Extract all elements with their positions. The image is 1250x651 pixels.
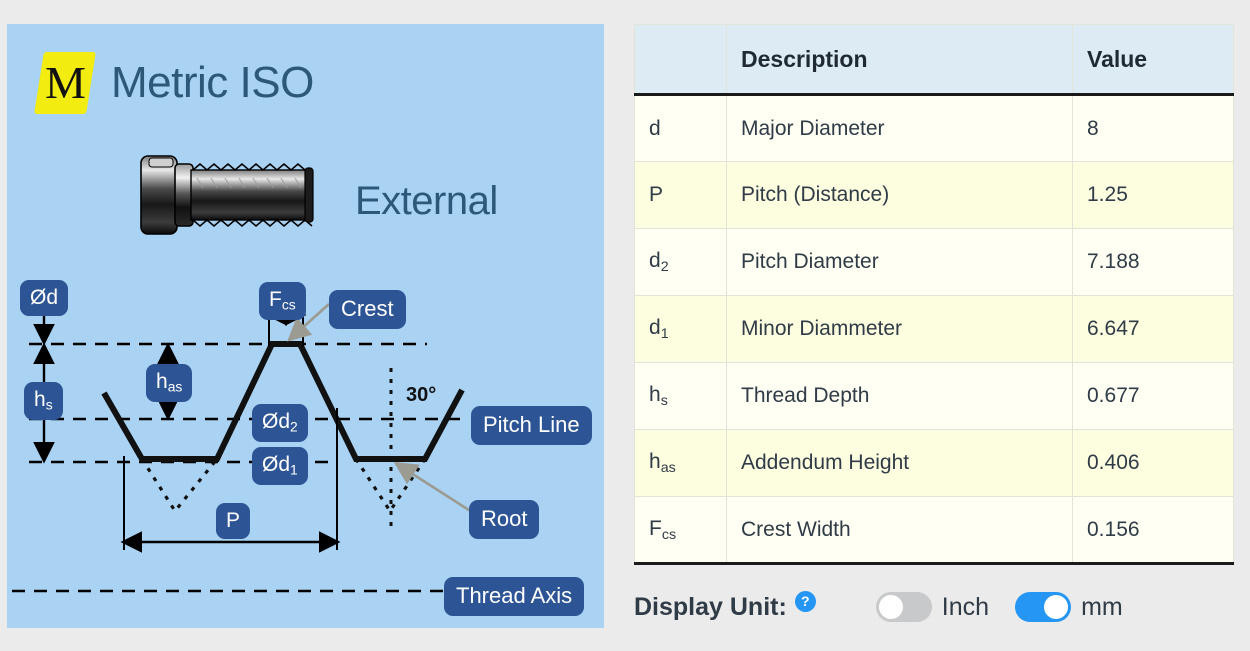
label-flank-angle: 30° bbox=[406, 384, 436, 407]
cell-symbol: Fcs bbox=[635, 497, 727, 564]
label-crest: Crest bbox=[329, 290, 406, 329]
cell-symbol: d bbox=[635, 95, 727, 162]
label-minor-diameter: Ød1 bbox=[252, 447, 308, 485]
page-title: Metric ISO bbox=[111, 58, 314, 108]
toggle-knob bbox=[879, 595, 903, 619]
toggle-knob bbox=[1044, 595, 1068, 619]
table-row: d2Pitch Diameter7.188 bbox=[635, 229, 1234, 296]
unit-toggle-group: Inchmm bbox=[876, 592, 1149, 622]
cell-value: 0.156 bbox=[1073, 497, 1234, 564]
table-row: PPitch (Distance)1.25 bbox=[635, 162, 1234, 229]
cell-symbol: P bbox=[635, 162, 727, 229]
cell-description: Crest Width bbox=[727, 497, 1073, 564]
label-major-diameter: Ød bbox=[20, 280, 68, 316]
cell-description: Minor Diammeter bbox=[727, 296, 1073, 363]
label-pitch-diameter: Ød2 bbox=[252, 404, 308, 442]
table-header-row: Description Value bbox=[635, 25, 1234, 95]
column-header-value: Value bbox=[1073, 25, 1234, 95]
cell-value: 0.677 bbox=[1073, 363, 1234, 430]
cell-description: Pitch Diameter bbox=[727, 229, 1073, 296]
display-unit-row: Display Unit: ? Inchmm bbox=[634, 586, 1149, 628]
unit-toggle-label-mm: mm bbox=[1081, 593, 1123, 622]
label-root: Root bbox=[469, 500, 539, 539]
thread-spec-page: M Metric ISO bbox=[0, 0, 1250, 651]
display-unit-label: Display Unit: bbox=[634, 593, 787, 622]
cell-symbol: hs bbox=[635, 363, 727, 430]
column-header-symbol bbox=[635, 25, 727, 95]
cell-value: 1.25 bbox=[1073, 162, 1234, 229]
cell-value: 6.647 bbox=[1073, 296, 1234, 363]
table-row: hasAddendum Height0.406 bbox=[635, 430, 1234, 497]
table-row: dMajor Diameter8 bbox=[635, 95, 1234, 162]
thread-profile-drawing bbox=[7, 268, 604, 628]
metric-badge-letter: M bbox=[45, 60, 86, 106]
cell-description: Major Diameter bbox=[727, 95, 1073, 162]
thread-spec-table: Description Value dMajor Diameter8PPitch… bbox=[634, 24, 1234, 565]
label-pitch: P bbox=[216, 503, 250, 539]
cell-description: Addendum Height bbox=[727, 430, 1073, 497]
unit-toggle-label-inch: Inch bbox=[942, 593, 989, 622]
table-row: hsThread Depth0.677 bbox=[635, 363, 1234, 430]
brand-header: M Metric ISO bbox=[39, 52, 314, 114]
cell-description: Pitch (Distance) bbox=[727, 162, 1073, 229]
cell-value: 0.406 bbox=[1073, 430, 1234, 497]
label-pitch-line: Pitch Line bbox=[471, 406, 592, 445]
label-addendum-height: has bbox=[146, 364, 192, 402]
column-header-description: Description bbox=[727, 25, 1073, 95]
label-thread-axis: Thread Axis bbox=[444, 577, 584, 616]
cell-description: Thread Depth bbox=[727, 363, 1073, 430]
thread-type-label: External bbox=[355, 179, 498, 224]
unit-toggle-inch[interactable] bbox=[876, 592, 932, 622]
metric-badge-icon: M bbox=[34, 52, 96, 114]
cell-value: 7.188 bbox=[1073, 229, 1234, 296]
label-thread-depth: hs bbox=[24, 382, 63, 420]
external-bolt-icon bbox=[139, 152, 349, 238]
cell-symbol: d2 bbox=[635, 229, 727, 296]
spec-table-container: Description Value dMajor Diameter8PPitch… bbox=[634, 24, 1233, 565]
table-row: FcsCrest Width0.156 bbox=[635, 497, 1234, 564]
cell-symbol: has bbox=[635, 430, 727, 497]
cell-value: 8 bbox=[1073, 95, 1234, 162]
help-icon[interactable]: ? bbox=[795, 591, 816, 612]
label-crest-width: Fcs bbox=[259, 282, 306, 320]
thread-diagram-panel: M Metric ISO bbox=[7, 24, 604, 628]
unit-toggle-mm[interactable] bbox=[1015, 592, 1071, 622]
table-row: d1Minor Diammeter6.647 bbox=[635, 296, 1234, 363]
cell-symbol: d1 bbox=[635, 296, 727, 363]
